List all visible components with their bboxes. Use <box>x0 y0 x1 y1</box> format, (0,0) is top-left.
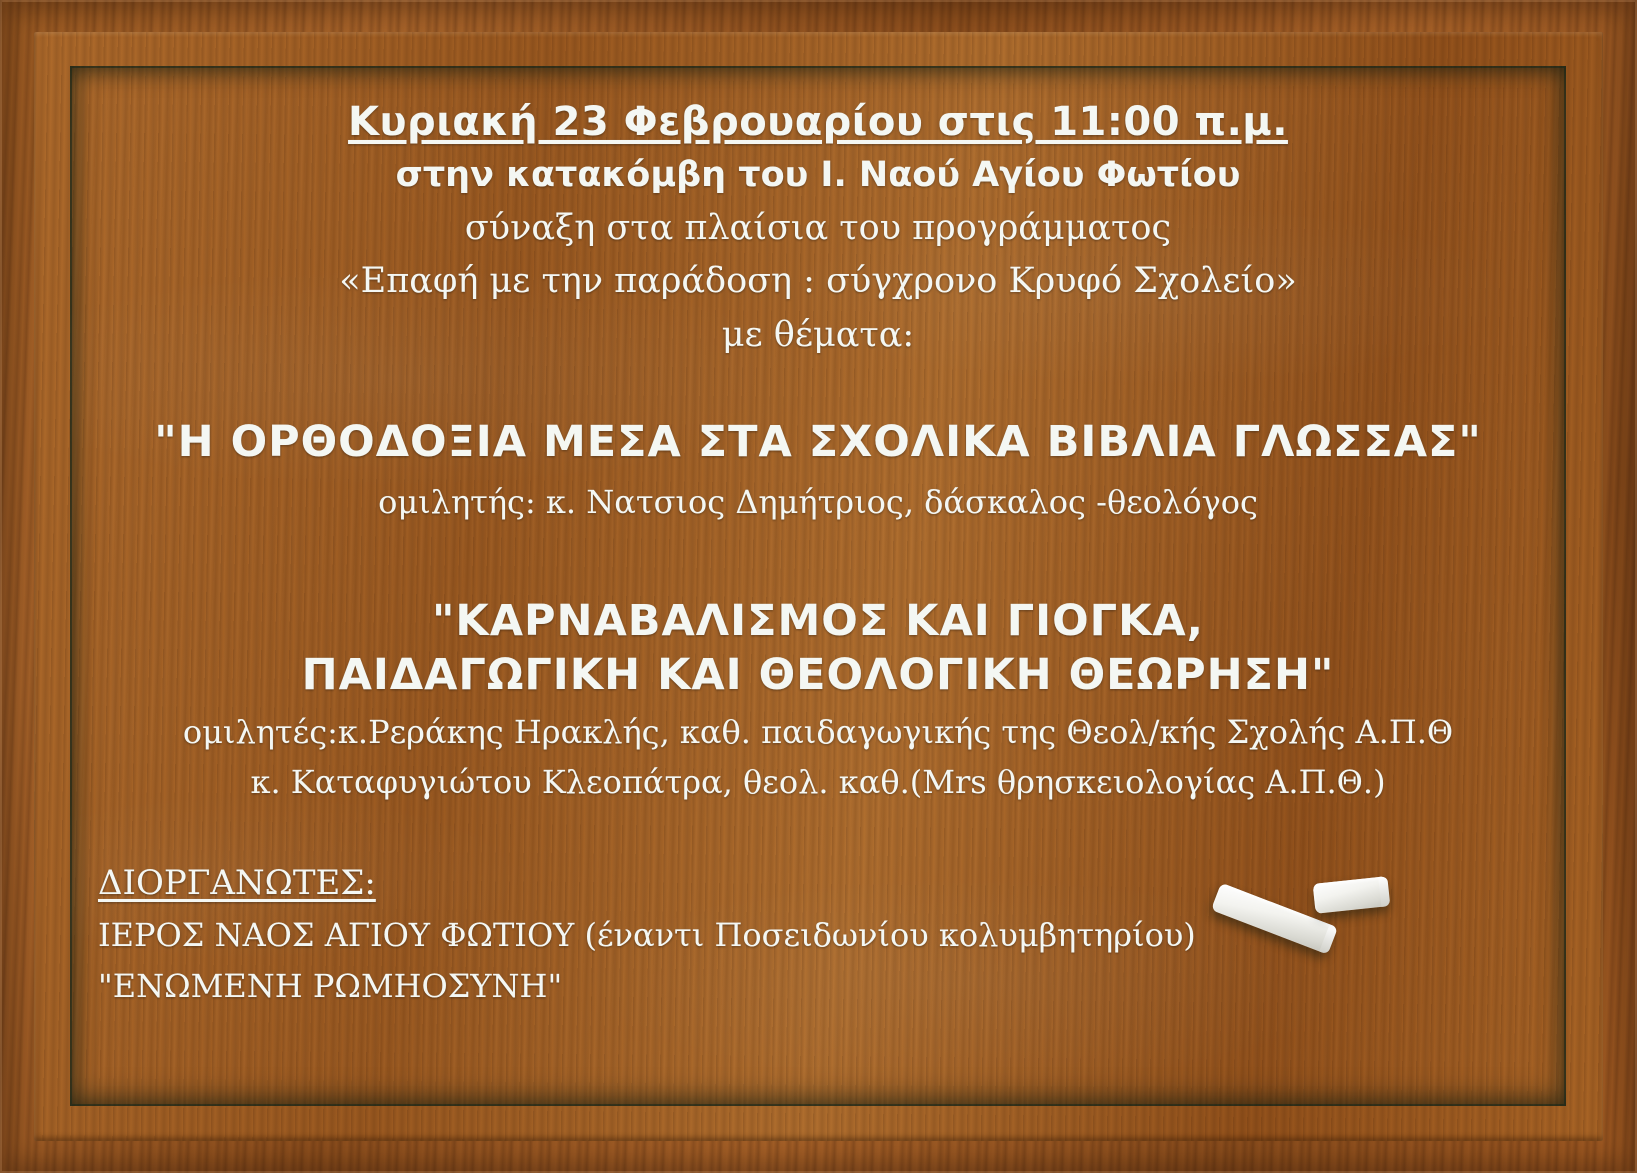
topic-2-title-line2: ΠΑΙΔΑΓΩΓΙΚΗ ΚΑΙ ΘΕΟΛΟΓΙΚΗ ΘΕΩΡΗΣΗ" <box>70 654 1566 697</box>
chalk-pieces <box>1210 866 1400 986</box>
event-location: στην κατακόμβη του Ι. Ναού Αγίου Φωτίου <box>70 158 1566 193</box>
event-program-title: «Επαφή με την παράδοση : σύγχρονο Κρυφό … <box>70 264 1566 299</box>
chalk-tip <box>1378 876 1390 907</box>
topics-intro-label: με θέματα: <box>70 318 1566 353</box>
topic-2-speaker-2: κ. Καταφυγιώτου Κλεοπάτρα, θεολ. καθ.(Mr… <box>70 766 1566 798</box>
topic-2-speaker-1: ομιλητές:κ.Ρεράκης Ηρακλής, καθ. παιδαγω… <box>70 716 1566 748</box>
chalk-tip <box>1319 924 1338 954</box>
organizer-item-2: "ΕΝΩΜΕΝΗ ΡΩΜΗΟΣΥΝΗ" <box>98 970 562 1002</box>
event-gathering-line: σύναξη στα πλαίσια του προγράμματος <box>70 211 1566 246</box>
wooden-frame: Κυριακή 23 Φεβρουαρίου στις 11:00 π.μ. σ… <box>0 0 1637 1173</box>
topic-1-title: "Η ΟΡΘΟΔΟΞΙΑ ΜΕΣΑ ΣΤΑ ΣΧΟΛΙΚΑ ΒΙΒΛΙΑ ΓΛΩ… <box>70 421 1566 464</box>
topic-2-title-line1: "ΚΑΡΝΑΒΑΛΙΣΜΟΣ ΚΑΙ ΓΙΟΓΚΑ, <box>70 600 1566 643</box>
chalk-stick-short <box>1313 876 1390 914</box>
event-date-time: Κυριακή 23 Φεβρουαρίου στις 11:00 π.μ. <box>70 102 1566 142</box>
organizer-item-1: ΙΕΡΟΣ ΝΑΟΣ ΑΓΙΟΥ ΦΩΤΙΟΥ (έναντι Ποσειδων… <box>98 919 1196 951</box>
chalkboard-surface: Κυριακή 23 Φεβρουαρίου στις 11:00 π.μ. σ… <box>70 66 1566 1106</box>
topic-1-speaker: ομιλητής: κ. Νατσιος Δημήτριος, δάσκαλος… <box>70 486 1566 518</box>
organizers-heading: ΔΙΟΡΓΑΝΩΤΕΣ: <box>98 866 376 900</box>
